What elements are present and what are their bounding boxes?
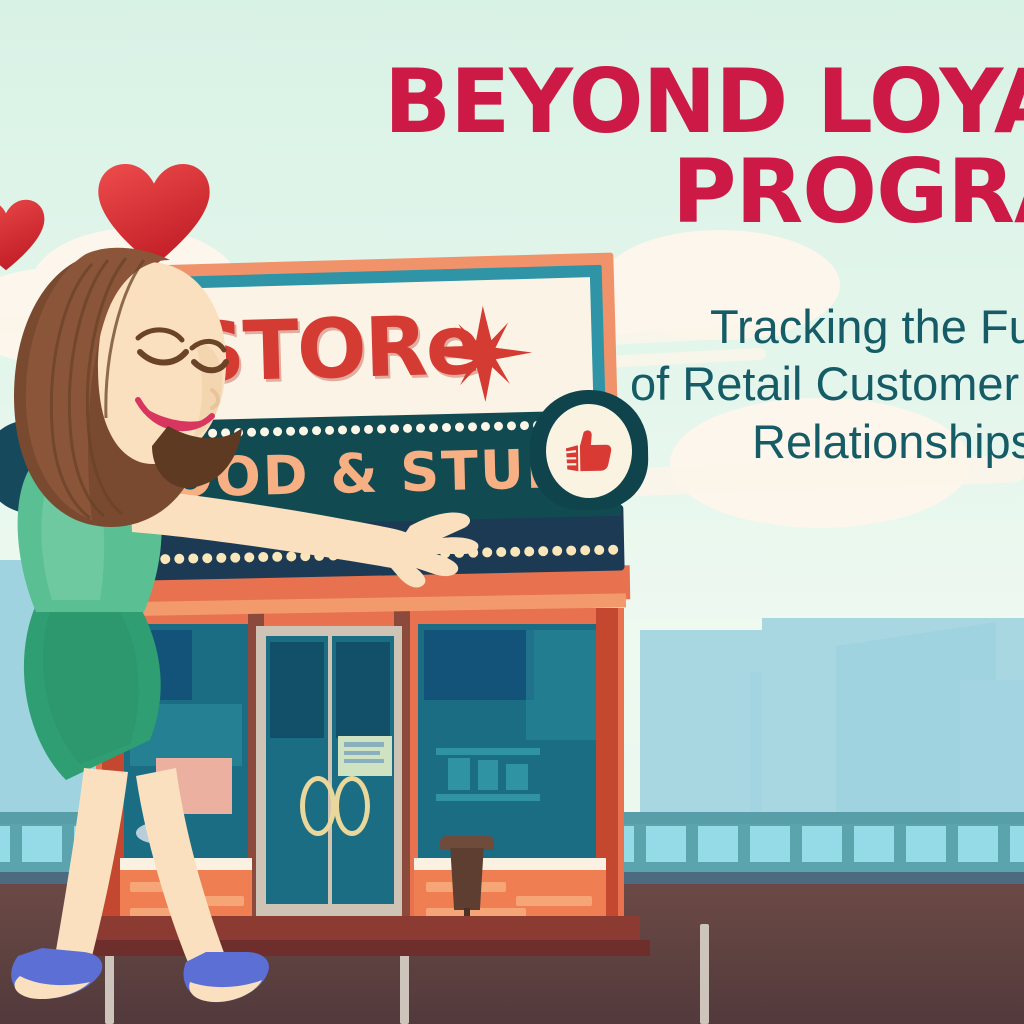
railing-slot	[802, 826, 842, 862]
parking-stripe	[700, 924, 709, 1024]
window-shelf-item	[478, 760, 498, 790]
marquee-bulb	[510, 547, 520, 557]
subheadline-line-2: of Retail Customer	[630, 355, 1024, 412]
marquee-bulb	[580, 545, 590, 555]
headline-line-1: BEYOND LOYALTY	[384, 60, 1024, 144]
subheadline: Tracking the Future of Retail Customer R…	[392, 298, 1024, 470]
subheadline-line-1: Tracking the Future	[710, 298, 1024, 355]
marquee-bulb	[608, 545, 618, 555]
headline-line-2: PROGRAMS	[672, 150, 1024, 234]
background-building	[960, 680, 1024, 822]
railing-slot	[1010, 826, 1024, 862]
railing-slot	[698, 826, 738, 862]
subheadline-line-3: Relationships	[752, 413, 1024, 470]
marquee-bulb	[538, 546, 548, 556]
railing-slot	[854, 826, 894, 862]
background-building	[640, 630, 764, 820]
marquee-bulb	[482, 547, 492, 557]
headline: BEYOND LOYALTY PROGRAMS	[384, 60, 1024, 235]
window-shelf-item	[506, 764, 528, 790]
infographic-header: STORe FOOD & STUFF	[0, 0, 1024, 1024]
railing-slot	[958, 826, 998, 862]
railing-slot	[646, 826, 686, 862]
railing-slot	[906, 826, 946, 862]
marquee-bulb	[496, 547, 506, 557]
marquee-bulb	[524, 546, 534, 556]
marquee-bulb	[552, 546, 562, 556]
marquee-bulb	[566, 545, 576, 555]
window-reflection	[526, 630, 600, 740]
base-brick	[516, 896, 592, 906]
railing-slot	[750, 826, 790, 862]
marquee-bulb	[594, 545, 604, 555]
